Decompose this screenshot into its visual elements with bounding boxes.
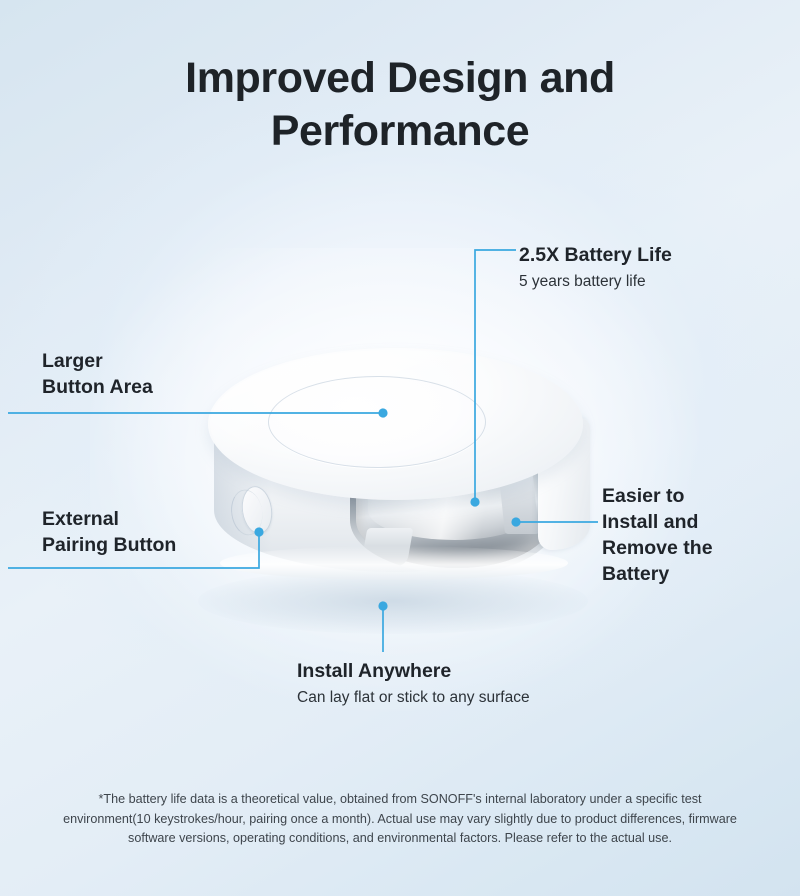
callout-battery-life: 2.5X Battery Life 5 years battery life	[519, 242, 672, 293]
callout-heading: External Pairing Button	[42, 506, 176, 558]
infographic-page: Improved Design and Performance	[0, 0, 800, 896]
callout-external-pairing-button: External Pairing Button	[42, 506, 176, 558]
footnote: *The battery life data is a theoretical …	[60, 790, 740, 849]
footnote-line-4: factors. Please refer to the actual use.	[460, 831, 672, 845]
callout-larger-button-area: Larger Button Area	[42, 348, 153, 400]
large-button-area	[268, 376, 486, 468]
callout-heading: Install Anywhere	[297, 658, 530, 684]
callout-install-anywhere: Install Anywhere Can lay flat or stick t…	[297, 658, 530, 709]
callout-heading: Larger Button Area	[42, 348, 153, 400]
page-title: Improved Design and Performance	[0, 52, 800, 158]
product-illustration	[150, 318, 650, 648]
callout-subtext: Can lay flat or stick to any surface	[297, 687, 530, 708]
callout-heading: Easier to Install and Remove the Battery	[602, 483, 713, 588]
device-bottom-rim	[220, 546, 568, 580]
footnote-line-1: *The battery life data is a theoretical …	[98, 792, 632, 806]
page-title-line-2: Performance	[0, 105, 800, 158]
page-title-line-1: Improved Design and	[0, 52, 800, 105]
callout-subtext: 5 years battery life	[519, 271, 672, 292]
callout-heading: 2.5X Battery Life	[519, 242, 672, 268]
callout-easier-install-remove-battery: Easier to Install and Remove the Battery	[602, 483, 713, 588]
